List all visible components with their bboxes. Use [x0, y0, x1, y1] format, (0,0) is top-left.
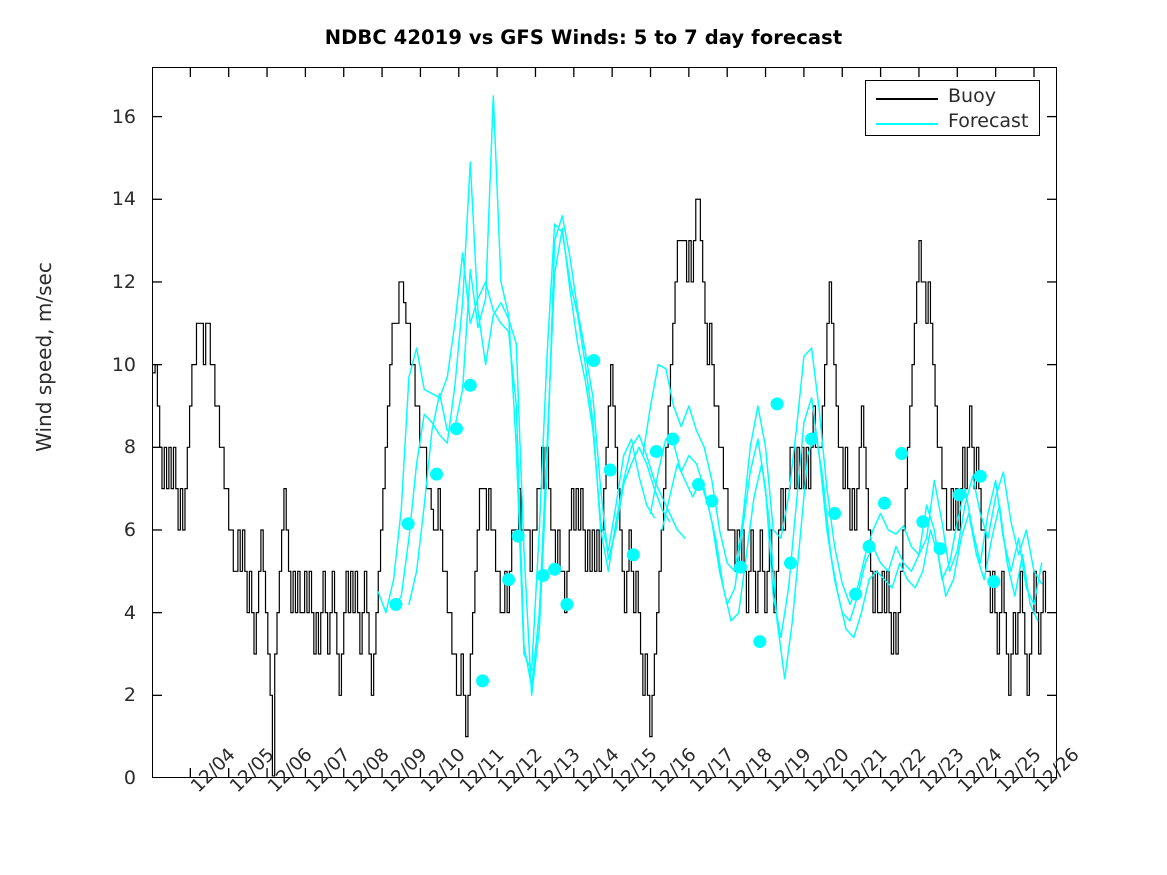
x-tick-label: 12/18	[724, 782, 739, 797]
x-tick-label: 12/06	[264, 782, 279, 797]
y-tick-label: 10	[112, 354, 136, 376]
chart-figure: NDBC 42019 vs GFS Winds: 5 to 7 day fore…	[0, 0, 1167, 875]
x-tick-label: 12/20	[801, 782, 816, 797]
x-tick-label: 12/22	[878, 782, 893, 797]
x-axis-tick-labels: 12/0412/0512/0612/0712/0812/0912/1012/11…	[152, 778, 1057, 873]
x-tick-label: 12/05	[226, 782, 241, 797]
x-tick-label: 12/13	[532, 782, 547, 797]
y-tick-label: 8	[124, 436, 136, 458]
x-tick-label: 12/17	[686, 782, 701, 797]
y-tick-label: 6	[124, 519, 136, 541]
plot-area	[152, 67, 1057, 778]
x-tick-label: 12/07	[302, 782, 317, 797]
y-tick-label: 2	[124, 684, 136, 706]
chart-legend: BuoyForecast	[865, 80, 1040, 136]
x-tick-label: 12/12	[494, 782, 509, 797]
plot-frame	[152, 67, 1057, 778]
legend-swatch-buoy	[876, 98, 938, 100]
x-tick-label: 12/26	[1031, 782, 1046, 797]
x-tick-label: 12/14	[571, 782, 586, 797]
x-tick-label: 12/11	[456, 782, 471, 797]
y-axis-tick-labels: 0246810121416	[0, 67, 146, 778]
x-tick-label: 12/19	[763, 782, 778, 797]
x-tick-label: 12/21	[839, 782, 854, 797]
x-tick-label: 12/24	[954, 782, 969, 797]
y-tick-label: 14	[112, 188, 136, 210]
legend-label-forecast: Forecast	[948, 110, 1028, 132]
x-tick-label: 12/09	[379, 782, 394, 797]
x-tick-label: 12/04	[187, 782, 202, 797]
x-tick-label: 12/10	[417, 782, 432, 797]
legend-item-buoy[interactable]: Buoy	[866, 86, 1041, 112]
x-tick-label: 12/23	[916, 782, 931, 797]
chart-title: NDBC 42019 vs GFS Winds: 5 to 7 day fore…	[0, 26, 1167, 49]
legend-label-buoy: Buoy	[948, 85, 996, 107]
x-tick-label: 12/16	[648, 782, 663, 797]
y-tick-label: 4	[124, 602, 136, 624]
legend-swatch-forecast	[876, 123, 938, 125]
legend-item-forecast[interactable]: Forecast	[866, 111, 1041, 137]
y-tick-label: 12	[112, 271, 136, 293]
y-tick-label: 16	[112, 106, 136, 128]
x-tick-label: 12/15	[609, 782, 624, 797]
x-tick-label: 12/25	[993, 782, 1008, 797]
y-tick-label: 0	[124, 767, 136, 789]
x-tick-label: 12/08	[341, 782, 356, 797]
